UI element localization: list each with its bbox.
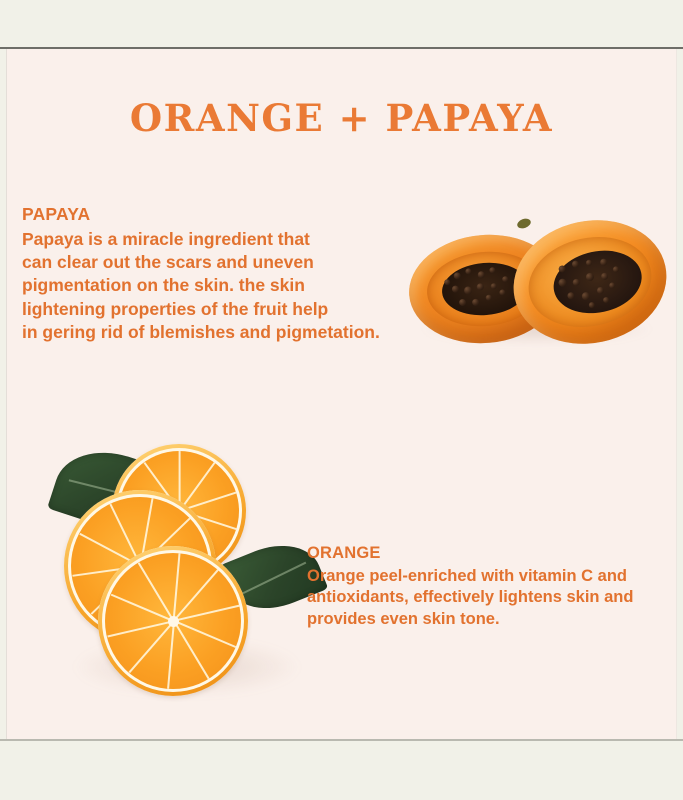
papaya-halves-photo xyxy=(405,217,667,357)
infographic-page: ORANGE + PAPAYA PAPAYA Papaya is a mirac… xyxy=(0,0,683,800)
papaya-seed xyxy=(477,271,485,279)
orange-slices-photo xyxy=(50,438,312,710)
bottom-divider xyxy=(0,739,683,741)
papaya-seed xyxy=(453,272,461,280)
orange-pulp xyxy=(105,553,241,689)
orange-heading: ORANGE xyxy=(307,543,659,564)
papaya-heading: PAPAYA xyxy=(22,204,442,226)
page-title: ORANGE + PAPAYA xyxy=(6,96,677,140)
papaya-seed xyxy=(463,286,472,295)
papaya-seed xyxy=(588,301,595,308)
orange-slice-front xyxy=(98,546,248,696)
orange-section: ORANGE Orange peel-enriched with vitamin… xyxy=(307,543,659,630)
papaya-stem xyxy=(516,217,532,230)
leaf-vein xyxy=(243,562,306,594)
orange-body: Orange peel-enriched with vitamin C and … xyxy=(307,566,659,630)
card-left-edge xyxy=(6,49,7,739)
papaya-section: PAPAYA Papaya is a miracle ingredient th… xyxy=(22,204,442,344)
content-card: ORANGE + PAPAYA PAPAYA Papaya is a mirac… xyxy=(6,49,677,739)
papaya-seed xyxy=(491,283,498,290)
papaya-seed xyxy=(451,285,459,293)
orange-core xyxy=(168,616,179,627)
papaya-body: Papaya is a miracle ingredient that can … xyxy=(22,228,442,344)
card-right-edge xyxy=(676,49,677,739)
papaya-seed xyxy=(458,298,466,306)
